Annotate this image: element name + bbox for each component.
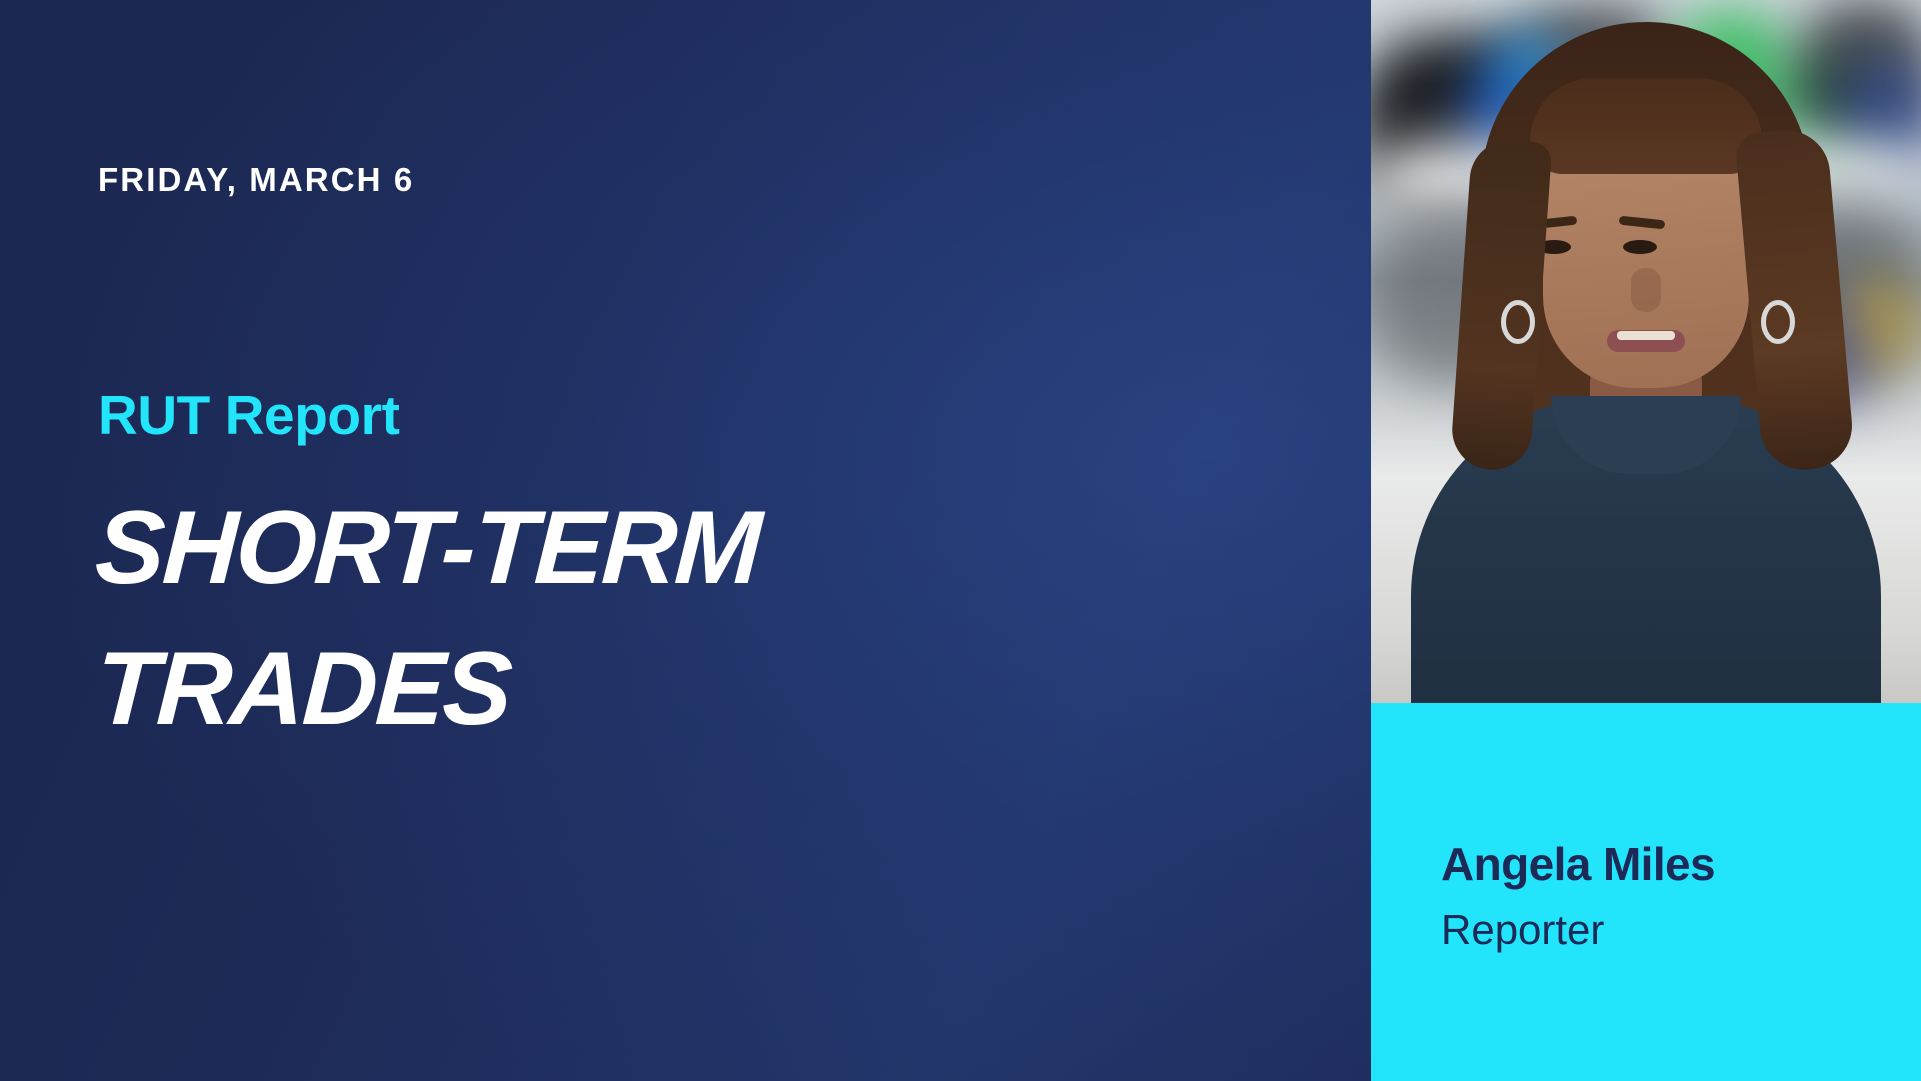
earring-left-icon [1501, 300, 1535, 344]
presenter-name-bar: Angela Miles Reporter [1371, 703, 1921, 1081]
presenter-role-text: Reporter [1441, 909, 1604, 951]
hair-fringe [1530, 78, 1762, 174]
eye-right [1623, 240, 1657, 254]
title-panel: FRIDAY, MARCH 6 RUT Report SHORT-TERM TR… [0, 0, 1371, 1081]
headline: SHORT-TERM TRADES [92, 478, 1212, 761]
nose [1631, 268, 1661, 312]
earring-right-icon [1761, 300, 1795, 344]
date-label: FRIDAY, MARCH 6 [98, 163, 414, 196]
broadcast-title-slide: FRIDAY, MARCH 6 RUT Report SHORT-TERM TR… [0, 0, 1921, 1081]
segment-kicker: RUT Report [98, 388, 400, 443]
teeth [1617, 331, 1675, 340]
headline-line-1: SHORT-TERM [92, 478, 1219, 619]
presenter-name-text: Angela Miles [1441, 841, 1715, 887]
headline-line-2: TRADES [92, 619, 1219, 760]
